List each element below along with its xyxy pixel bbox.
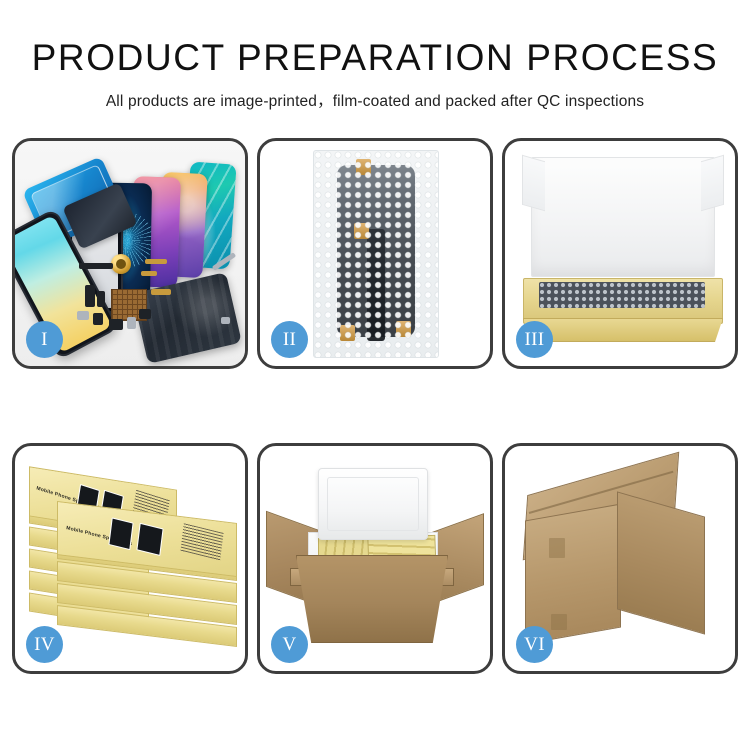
header: PRODUCT PREPARATION PROCESS All products… bbox=[0, 36, 750, 111]
process-step-1: I bbox=[12, 138, 248, 369]
part-flex-cable-icon bbox=[85, 285, 95, 307]
part-speaker-icon bbox=[93, 313, 103, 325]
kraft-tray-front-edge bbox=[523, 318, 723, 342]
step-3-image: III bbox=[505, 141, 735, 366]
carton-tab-lower bbox=[551, 614, 567, 630]
page-title: PRODUCT PREPARATION PROCESS bbox=[0, 36, 750, 80]
part-antenna-icon bbox=[151, 289, 171, 295]
step-2-image: II bbox=[260, 141, 490, 366]
step-1-image: I bbox=[15, 141, 245, 366]
step-4-image: Mobile Phone Spare Parts Mobile Phone Sp… bbox=[15, 446, 245, 671]
step-6-image: VI bbox=[505, 446, 735, 671]
process-step-grid: I II bbox=[12, 138, 738, 674]
part-vibrator-icon bbox=[109, 319, 123, 330]
bubble-texture bbox=[314, 151, 438, 357]
box-window-right-icon bbox=[136, 523, 163, 556]
bubble-wrapped-units-in-tray bbox=[539, 282, 705, 308]
product-preparation-infographic: PRODUCT PREPARATION PROCESS All products… bbox=[0, 0, 750, 750]
step-badge-2: II bbox=[271, 321, 308, 358]
part-screw-icon bbox=[221, 317, 230, 324]
foam-lid bbox=[318, 468, 428, 540]
part-gold-flex-icon bbox=[145, 259, 167, 264]
process-step-5: V bbox=[257, 443, 493, 674]
step-badge-3: III bbox=[516, 321, 553, 358]
step-badge-4: IV bbox=[26, 626, 63, 663]
step-badge-1: I bbox=[26, 321, 63, 358]
part-connector-icon bbox=[139, 309, 151, 319]
process-step-4: Mobile Phone Spare Parts Mobile Phone Sp… bbox=[12, 443, 248, 674]
white-box-lid bbox=[531, 157, 715, 277]
camera-lens-icon bbox=[111, 254, 131, 274]
part-gold-clip-icon bbox=[141, 271, 157, 276]
step-badge-6: VI bbox=[516, 626, 553, 663]
step-5-image: V bbox=[260, 446, 490, 671]
carton-body bbox=[296, 555, 448, 643]
retail-box-stack: Mobile Phone Spare Parts Mobile Phone Sp… bbox=[29, 472, 235, 652]
process-step-2: II bbox=[257, 138, 493, 369]
process-step-6: VI bbox=[502, 443, 738, 674]
carton-tab-upper bbox=[549, 538, 565, 558]
box-window-left-icon bbox=[108, 517, 133, 550]
page-subtitle: All products are image-printed，film-coat… bbox=[0, 89, 750, 111]
shipping-carton-front-face bbox=[525, 504, 621, 645]
part-metal-bracket-icon bbox=[77, 311, 89, 320]
step-badge-5: V bbox=[271, 626, 308, 663]
bubble-wrap-bag bbox=[313, 150, 439, 358]
part-sim-tray-icon bbox=[127, 317, 136, 329]
part-strip-icon bbox=[79, 263, 113, 269]
part-small-flex-icon bbox=[97, 291, 105, 307]
process-step-3: III bbox=[502, 138, 738, 369]
shipping-carton-side-face bbox=[617, 491, 705, 634]
